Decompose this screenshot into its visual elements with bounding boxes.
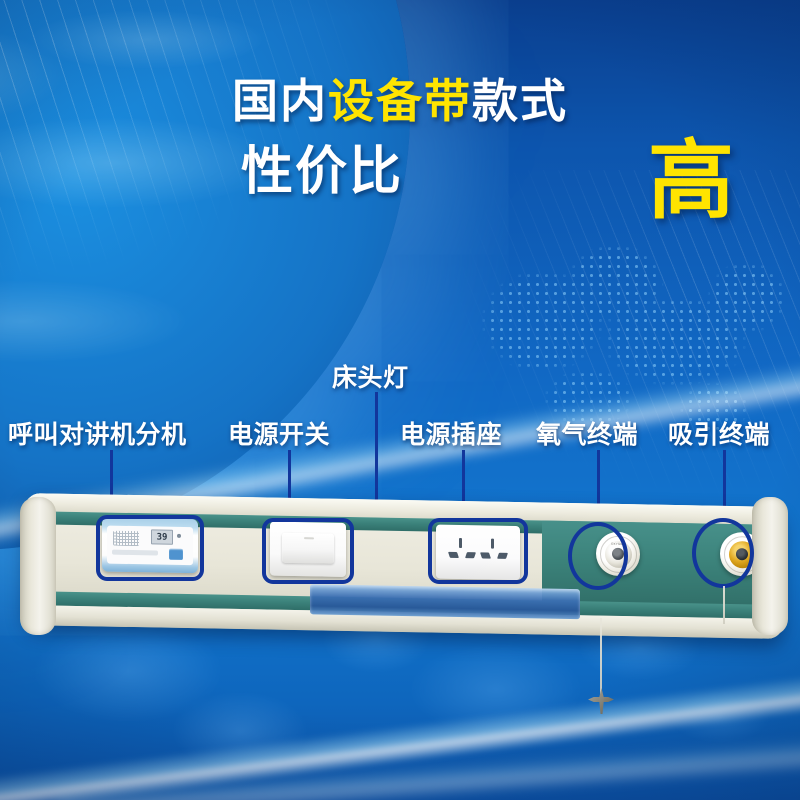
callout-label-suction-terminal: 吸引终端 <box>668 415 770 451</box>
promo-banner: 国内设备带款式 性价比 高 呼叫对讲机分机 电源开关 床头灯 电源插座 氧气终端… <box>0 0 800 800</box>
callout-label-bed-head-lamp: 床头灯 <box>332 358 409 394</box>
grab-rail <box>310 584 580 619</box>
callout-layer: 呼叫对讲机分机 电源开关 床头灯 电源插座 氧气终端 吸引终端 <box>0 0 800 800</box>
highlight-box-power-switch <box>262 518 354 584</box>
highlight-box-intercom <box>96 515 204 581</box>
pull-cord-secondary <box>723 586 725 624</box>
highlight-box-power-outlet <box>428 518 528 584</box>
callout-label-nurse-call-intercom: 呼叫对讲机分机 <box>8 415 187 451</box>
callout-label-power-outlet: 电源插座 <box>400 415 502 451</box>
cord-hook-icon <box>588 688 614 714</box>
panel-end-cap-left <box>20 497 56 635</box>
panel-end-cap-right <box>752 497 788 635</box>
highlight-ellipse-suction <box>692 518 754 588</box>
callout-label-oxygen-terminal: 氧气终端 <box>536 415 638 451</box>
highlight-ellipse-oxygen <box>568 522 628 590</box>
hook-arm-vertical <box>599 688 604 714</box>
callout-label-power-switch: 电源开关 <box>228 415 330 451</box>
pull-cord <box>600 618 602 694</box>
